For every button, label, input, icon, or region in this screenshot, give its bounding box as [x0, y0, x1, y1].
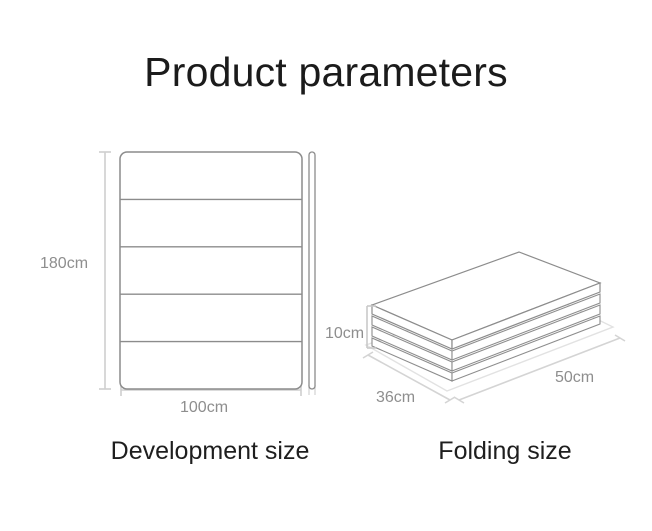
- dimension-bracket-180cm: [99, 152, 111, 389]
- dimension-label-development-width: 100cm: [180, 398, 228, 417]
- folded-layer-1: [372, 252, 600, 349]
- dimension-label-folding-height: 10cm: [325, 324, 364, 343]
- dimension-bracket-100cm: [121, 384, 301, 396]
- dimension-label-development-height: 180cm: [40, 254, 88, 273]
- caption-development-size: Development size: [60, 436, 360, 466]
- caption-folding-size: Folding size: [370, 436, 640, 466]
- dimension-label-folding-depth: 50cm: [555, 368, 594, 387]
- diagram-canvas: Product parameters: [0, 0, 652, 531]
- dimension-bracket-10cm: [367, 306, 376, 348]
- dimension-tick-side-strip: [309, 385, 315, 395]
- mattress-side-strip: [309, 152, 315, 389]
- folded-layer-3: [372, 305, 600, 371]
- mattress-panel-dividers: [120, 199, 302, 341]
- development-size-diagram: [99, 152, 315, 396]
- dimension-line-50cm: [454, 335, 625, 403]
- page-title: Product parameters: [0, 48, 652, 96]
- dimension-label-folding-width: 36cm: [376, 388, 415, 407]
- folded-layer-2: [372, 294, 600, 360]
- mattress-outline: [120, 152, 302, 389]
